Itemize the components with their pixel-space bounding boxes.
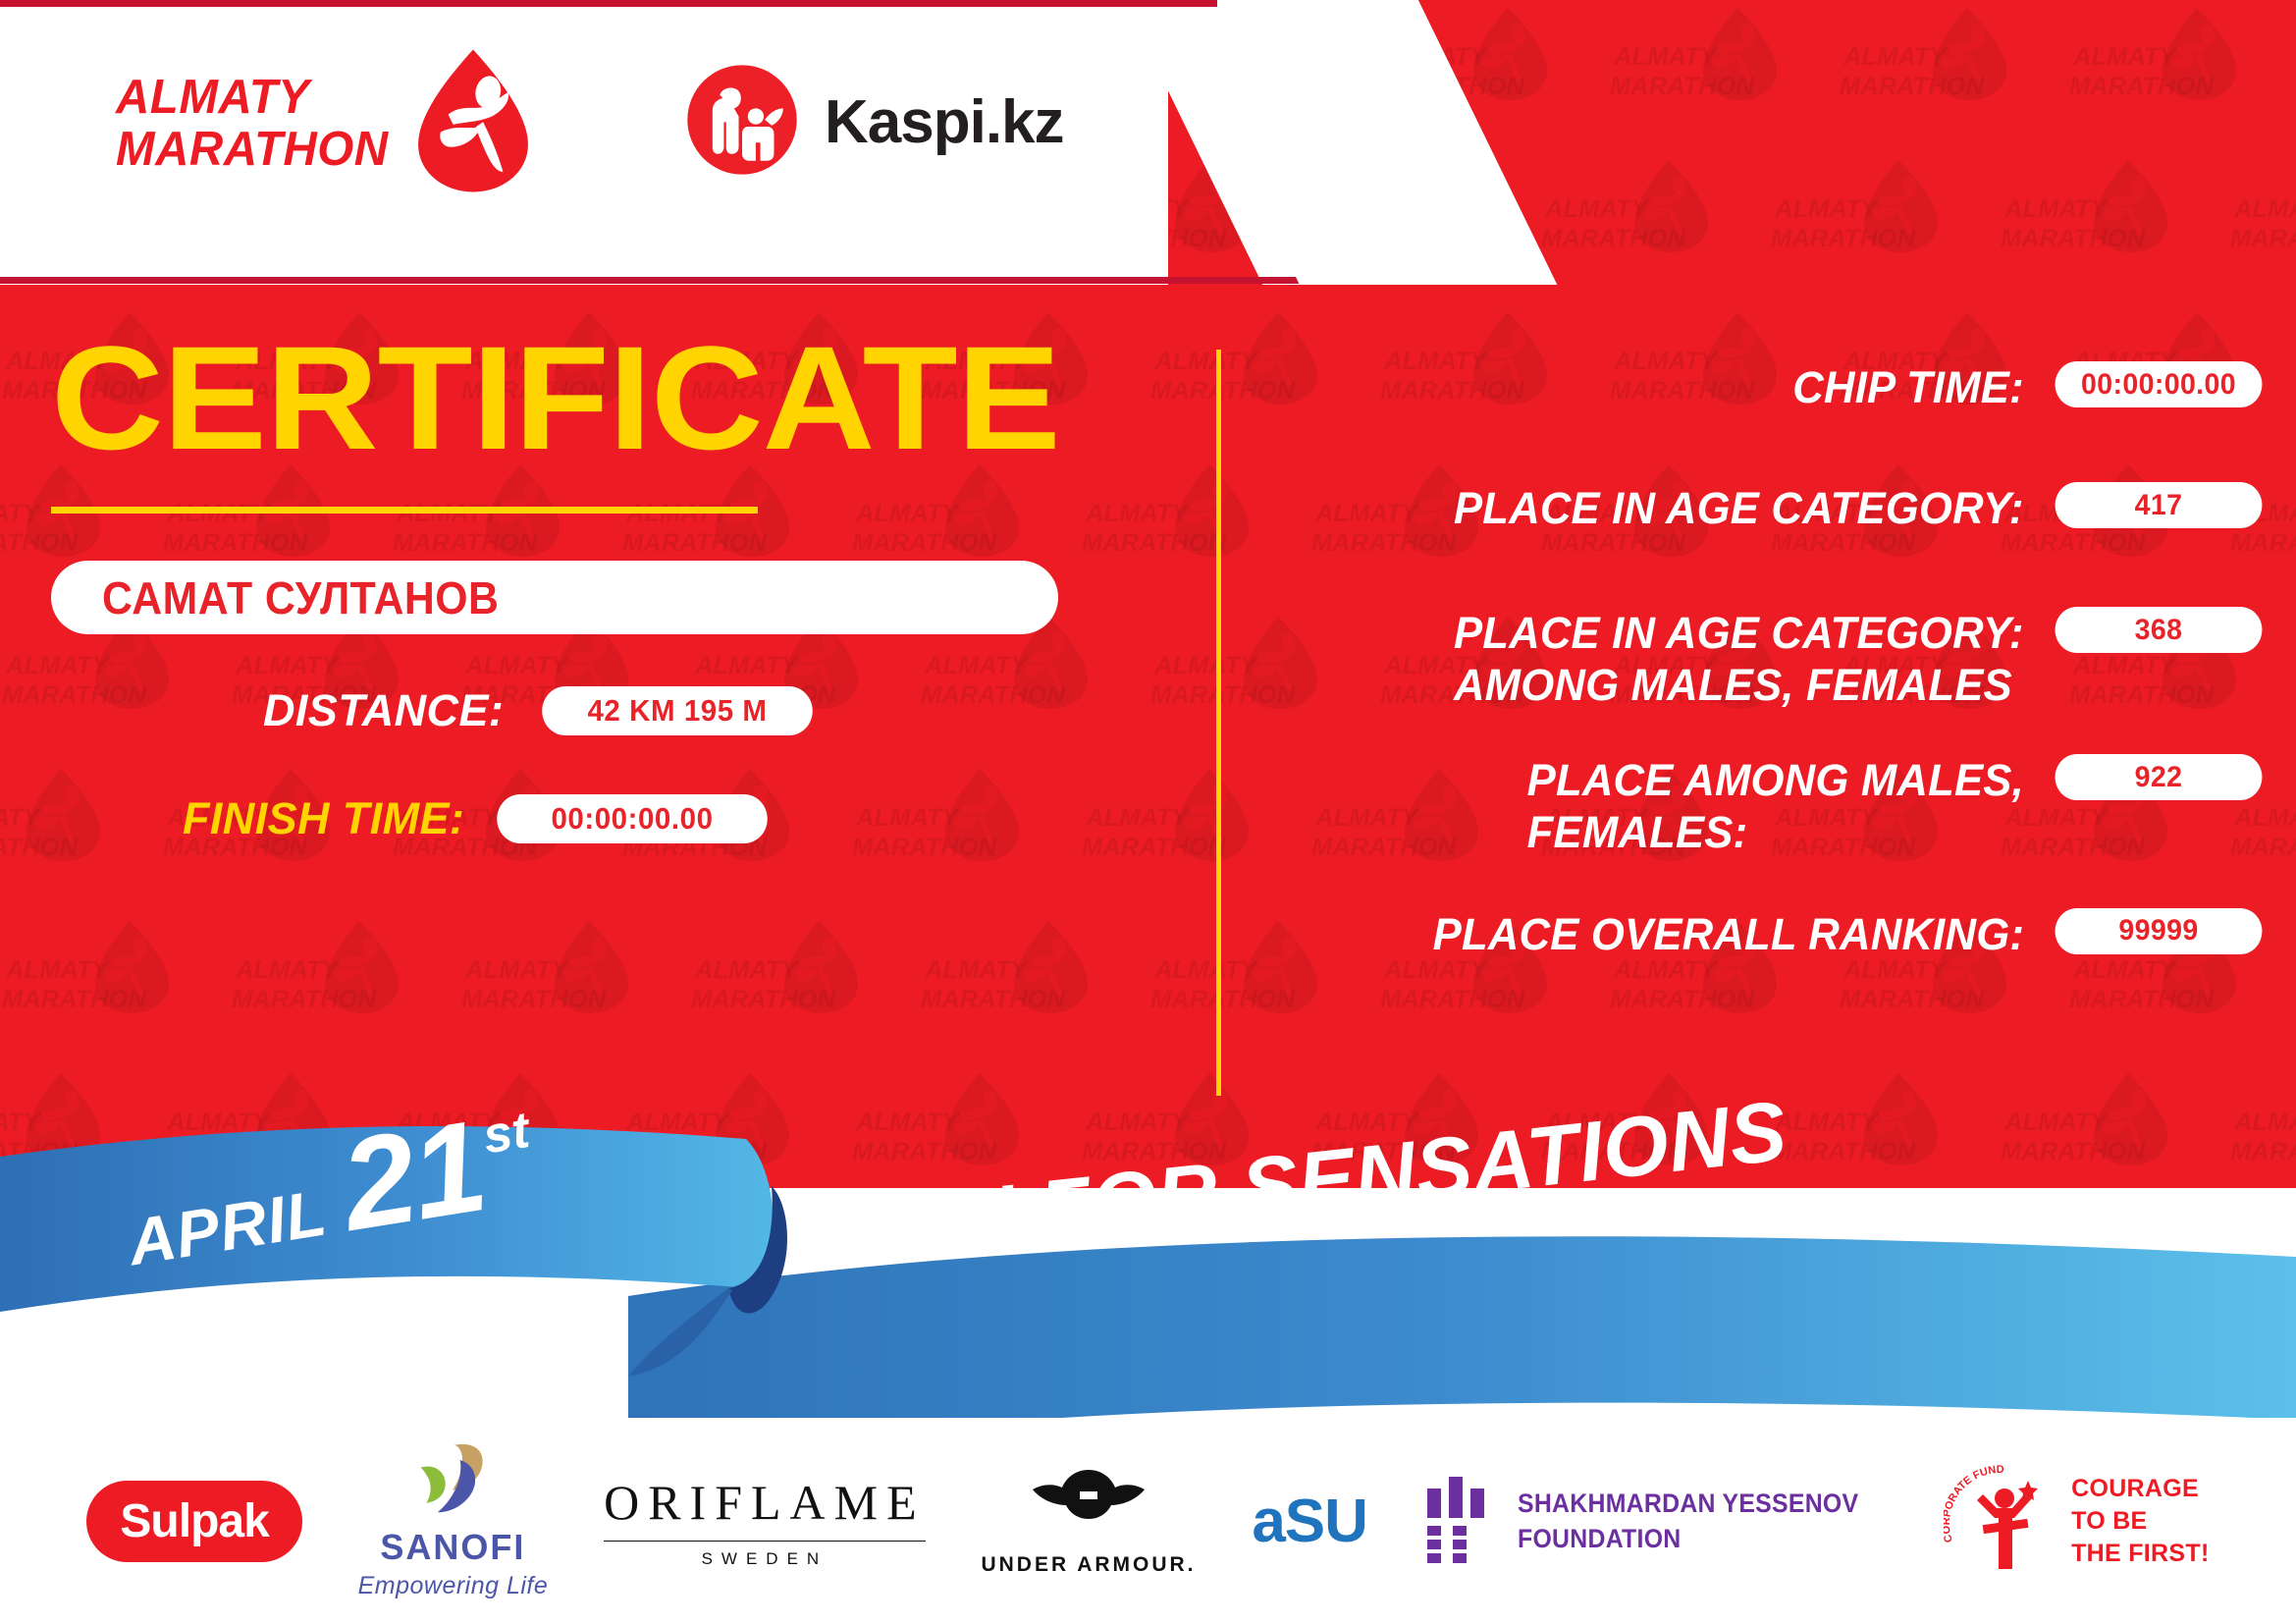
- watermark-tile: ALMATYMARATHON: [1608, 0, 1804, 133]
- event-month: APRIL: [123, 1174, 331, 1279]
- page-title: CERTIFICATE: [51, 324, 1258, 471]
- svg-text:ALMATY: ALMATY: [1842, 43, 1949, 71]
- svg-text:MARATHON: MARATHON: [461, 986, 607, 1013]
- svg-text:MARATHON: MARATHON: [2001, 225, 2146, 252]
- sponsor-courage-fund: CORPORATE FUND COURAGE TO BE THE FIRST!: [1944, 1461, 2210, 1582]
- svg-text:MARATHON: MARATHON: [852, 1138, 997, 1165]
- kaspi-wordmark: Kaspi.kz: [825, 87, 1064, 157]
- svg-text:MARATHON: MARATHON: [2230, 225, 2296, 252]
- yessenov-line-2: FOUNDATION: [1518, 1521, 1858, 1556]
- watermark-tile: ALMATYMARATHON: [459, 913, 656, 1046]
- svg-text:ALMATY: ALMATY: [1774, 195, 1880, 223]
- watermark-tile: ALMATYMARATHON: [230, 913, 426, 1046]
- svg-text:MARATHON: MARATHON: [1541, 225, 1686, 252]
- svg-text:ALMATY: ALMATY: [2003, 195, 2109, 223]
- under-armour-wordmark: UNDER ARMOUR.: [981, 1553, 1196, 1577]
- svg-text:ALMATY: ALMATY: [1613, 43, 1719, 71]
- watermark-tile: ALMATYMARATHON: [2228, 1065, 2296, 1188]
- courage-wordmark: COURAGE TO BE THE FIRST!: [2071, 1473, 2210, 1570]
- place-age-category-gender-label: PLACE IN AGE CATEGORY: AMONG MALES, FEMA…: [1454, 607, 2024, 711]
- athlete-name-field: САМАТ СУЛТАНОВ: [51, 561, 1058, 634]
- svg-text:ALMATY: ALMATY: [2233, 1109, 2296, 1136]
- svg-text:ALMATY: ALMATY: [1085, 1109, 1191, 1136]
- sponsor-oriflame: ORIFLAME SWEDEN: [604, 1474, 926, 1569]
- certificate-left-column: CERTIFICATE САМАТ СУЛТАНОВ DISTANCE: 42 …: [51, 324, 1190, 844]
- almaty-marathon-logo: ALMATY MARATHON: [116, 47, 536, 199]
- finish-time-row: FINISH TIME: 00:00:00.00: [51, 793, 1190, 844]
- watermark-tile: ALMATYMARATHON: [1769, 1065, 1965, 1188]
- title-underline-rule: [51, 507, 758, 514]
- svg-text:ALMATY: ALMATY: [166, 1109, 272, 1136]
- certificate-page: ALMATYMARATHONALMATYMARATHONALMATYMARATH…: [0, 0, 2296, 1624]
- svg-text:MARATHON: MARATHON: [1610, 73, 1755, 100]
- chip-time-label: CHIP TIME:: [1792, 361, 2024, 413]
- watermark-tile: ALMATYMARATHON: [2228, 152, 2296, 285]
- svg-text:MARATHON: MARATHON: [2069, 73, 2215, 100]
- watermark-tile: ALMATYMARATHON: [1999, 1065, 2195, 1188]
- asu-wordmark: aSU: [1252, 1487, 1367, 1556]
- sponsor-yessenov-foundation: SHAKHMARDAN YESSENOV FOUNDATION: [1423, 1473, 1889, 1570]
- svg-text:MARATHON: MARATHON: [1771, 1138, 1916, 1165]
- svg-text:ALMATY: ALMATY: [0, 1109, 42, 1136]
- kaspi-people-icon: [685, 63, 799, 182]
- finish-time-value: 00:00:00.00: [498, 794, 769, 843]
- place-age-category-value: 417: [2056, 482, 2263, 528]
- sanofi-wordmark: SANOFI: [380, 1527, 525, 1568]
- event-day: 21: [334, 1101, 493, 1251]
- almaty-logo-line1: ALMATY: [116, 72, 389, 124]
- courage-line-3: THE FIRST!: [2071, 1538, 2210, 1570]
- distance-row: DISTANCE: 42 KM 195 M: [51, 685, 1190, 736]
- watermark-tile: ALMATYMARATHON: [2067, 0, 2264, 133]
- header-bottom-rule: [0, 277, 1139, 284]
- place-age-category-gender-row: PLACE IN AGE CATEGORY: AMONG MALES, FEMA…: [1286, 607, 2268, 711]
- header-white-notch-slant: [1119, 0, 1557, 285]
- svg-text:MARATHON: MARATHON: [2, 986, 147, 1013]
- sanofi-mark-icon: [405, 1441, 500, 1523]
- chip-time-row: CHIP TIME: 00:00:00.00: [1286, 361, 2268, 413]
- svg-text:ALMATY: ALMATY: [2072, 43, 2178, 71]
- watermark-tile: ALMATYMARATHON: [620, 1065, 817, 1188]
- svg-text:MARATHON: MARATHON: [1771, 225, 1916, 252]
- label-line-1: PLACE AMONG MALES,: [1527, 755, 2024, 805]
- event-day-suffix: st: [479, 1101, 533, 1165]
- watermark-tile: ALMATYMARATHON: [1838, 0, 2034, 133]
- place-among-gender-value: 922: [2056, 754, 2263, 800]
- svg-text:MARATHON: MARATHON: [2230, 1138, 2296, 1165]
- svg-text:ALMATY: ALMATY: [235, 956, 341, 984]
- place-age-category-label: PLACE IN AGE CATEGORY:: [1454, 482, 2024, 534]
- svg-text:ALMATY: ALMATY: [464, 956, 570, 984]
- svg-text:ALMATY: ALMATY: [1153, 956, 1259, 984]
- svg-text:ALMATY: ALMATY: [694, 956, 800, 984]
- label-line-1: PLACE IN AGE CATEGORY:: [1454, 608, 2024, 658]
- kaspi-logo: Kaspi.kz: [685, 63, 1064, 182]
- athlete-name-value: САМАТ СУЛТАНОВ: [102, 571, 499, 624]
- vertical-divider: [1216, 350, 1221, 1096]
- almaty-logo-line2: MARATHON: [116, 124, 389, 176]
- svg-text:ALMATY: ALMATY: [924, 956, 1030, 984]
- svg-text:MARATHON: MARATHON: [1840, 73, 1985, 100]
- svg-text:ALMATY: ALMATY: [1774, 1109, 1880, 1136]
- svg-text:ALMATY: ALMATY: [625, 1109, 731, 1136]
- header-bottom-rule-slant: [1131, 277, 1299, 284]
- sulpak-logo: Sulpak: [86, 1481, 301, 1562]
- watermark-tile: ALMATYMARATHON: [0, 1065, 128, 1188]
- label-line-2: AMONG MALES, FEMALES: [1454, 660, 2012, 710]
- sponsor-asu: aSU: [1252, 1487, 1367, 1556]
- place-among-gender-label: PLACE AMONG MALES, FEMALES:: [1527, 754, 2024, 858]
- place-overall-label: PLACE OVERALL RANKING:: [1433, 908, 2024, 960]
- sponsor-sanofi: SANOFI Empowering Life: [358, 1441, 549, 1600]
- svg-text:ALMATY: ALMATY: [0, 804, 42, 832]
- svg-text:MARATHON: MARATHON: [2001, 1138, 2146, 1165]
- under-armour-icon: [1025, 1466, 1152, 1543]
- place-age-category-gender-value: 368: [2056, 607, 2263, 653]
- label-line-2: FEMALES:: [1527, 807, 1748, 857]
- finish-time-label: FINISH TIME:: [183, 793, 464, 844]
- watermark-tile: ALMATYMARATHON: [0, 913, 196, 1046]
- top-rule: [0, 0, 1217, 7]
- svg-text:MARATHON: MARATHON: [232, 986, 377, 1013]
- svg-text:ALMATY: ALMATY: [2003, 1109, 2109, 1136]
- yessenov-line-1: SHAKHMARDAN YESSENOV: [1518, 1486, 1858, 1521]
- distance-label: DISTANCE:: [263, 685, 504, 736]
- svg-text:MARATHON: MARATHON: [921, 986, 1066, 1013]
- svg-text:MARATHON: MARATHON: [622, 1138, 768, 1165]
- oriflame-wordmark: ORIFLAME: [604, 1474, 926, 1531]
- sponsor-bar: Sulpak SANOFI Empowering Life ORIFLAME S…: [0, 1418, 2296, 1624]
- place-overall-row: PLACE OVERALL RANKING: 99999: [1286, 908, 2268, 960]
- watermark-tile: ALMATYMARATHON: [1539, 152, 1735, 285]
- svg-text:ALMATY: ALMATY: [0, 500, 42, 527]
- yessenov-wordmark: SHAKHMARDAN YESSENOV FOUNDATION: [1518, 1486, 1858, 1557]
- sponsor-sulpak: Sulpak: [86, 1481, 301, 1562]
- distance-value: 42 KM 195 M: [543, 686, 814, 735]
- almaty-marathon-wordmark: ALMATY MARATHON: [116, 72, 389, 176]
- oriflame-subtext: SWEDEN: [604, 1541, 926, 1569]
- place-overall-value: 99999: [2056, 908, 2263, 954]
- courage-figure-icon: CORPORATE FUND: [1944, 1461, 2061, 1582]
- watermark-tile: ALMATYMARATHON: [1999, 152, 2195, 285]
- runner-droplet-icon: [410, 47, 536, 199]
- certificate-right-column: CHIP TIME: 00:00:00.00 PLACE IN AGE CATE…: [1286, 361, 2268, 1015]
- svg-text:MARATHON: MARATHON: [691, 986, 836, 1013]
- sanofi-tagline: Empowering Life: [358, 1572, 549, 1600]
- svg-text:MARATHON: MARATHON: [0, 1138, 79, 1165]
- svg-text:MARATHON: MARATHON: [1150, 986, 1296, 1013]
- svg-text:ALMATY: ALMATY: [2233, 195, 2296, 223]
- sponsor-under-armour: UNDER ARMOUR.: [981, 1466, 1196, 1577]
- place-age-category-row: PLACE IN AGE CATEGORY: 417: [1286, 482, 2268, 534]
- watermark-tile: ALMATYMARATHON: [919, 913, 1115, 1046]
- watermark-tile: ALMATYMARATHON: [1769, 152, 1965, 285]
- svg-text:ALMATY: ALMATY: [5, 956, 111, 984]
- courage-line-1: COURAGE: [2071, 1473, 2210, 1505]
- place-among-gender-row: PLACE AMONG MALES, FEMALES: 922: [1286, 754, 2268, 858]
- courage-line-2: TO BE: [2071, 1505, 2210, 1538]
- chip-time-value: 00:00:00.00: [2056, 361, 2263, 407]
- yessenov-bars-icon: [1423, 1473, 1496, 1570]
- svg-text:ALMATY: ALMATY: [855, 1109, 961, 1136]
- watermark-tile: ALMATYMARATHON: [689, 913, 885, 1046]
- svg-text:ALMATY: ALMATY: [1544, 195, 1650, 223]
